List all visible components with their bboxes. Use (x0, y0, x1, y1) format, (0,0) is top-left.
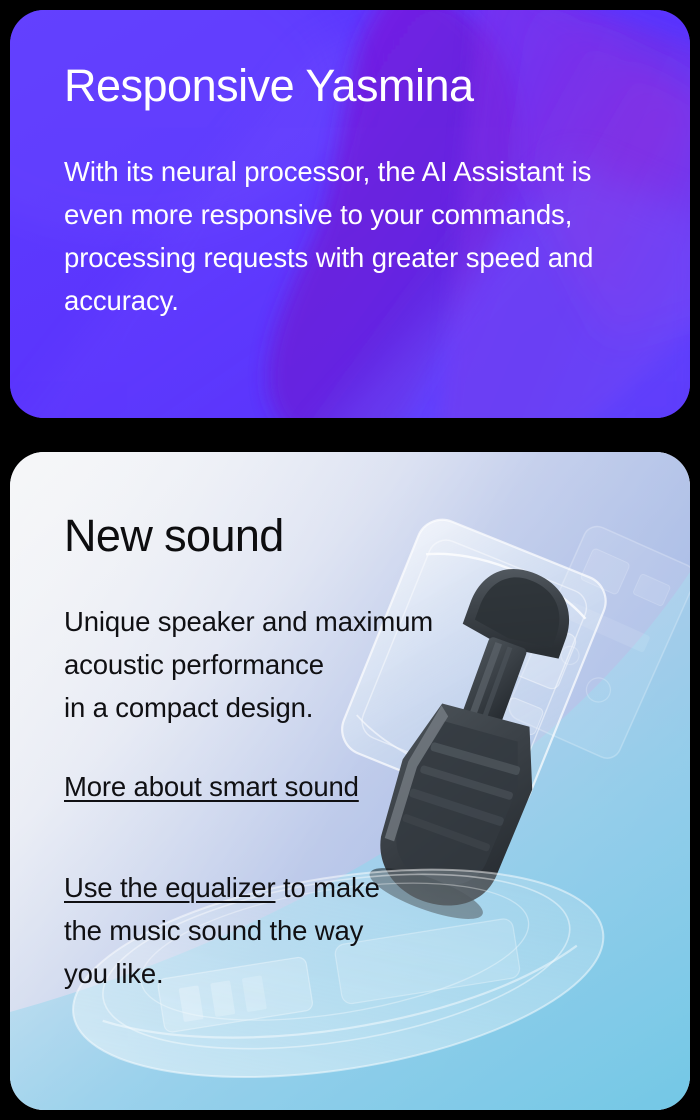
equalizer-text-row: Use the equalizer to make the music soun… (64, 866, 494, 995)
page-root: Responsive Yasmina With its neural proce… (0, 0, 700, 1120)
new-sound-card: New sound Unique speaker and maximum aco… (10, 452, 690, 1110)
equalizer-sentence: Use the equalizer to make the music soun… (64, 872, 380, 989)
use-the-equalizer-link[interactable]: Use the equalizer (64, 872, 275, 903)
responsive-assistant-card: Responsive Yasmina With its neural proce… (10, 10, 690, 418)
more-about-smart-sound-link[interactable]: More about smart sound (64, 771, 359, 802)
sound-card-title: New sound (64, 512, 494, 561)
sound-card-content: New sound Unique speaker and maximum aco… (64, 512, 494, 995)
ai-card-title: Responsive Yasmina (64, 62, 654, 111)
sound-card-body: Unique speaker and maximum acoustic perf… (64, 600, 494, 729)
ai-card-content: Responsive Yasmina With its neural proce… (64, 62, 654, 322)
ai-card-body: With its neural processor, the AI Assist… (64, 150, 644, 322)
smart-sound-link-row: More about smart sound (64, 765, 494, 808)
